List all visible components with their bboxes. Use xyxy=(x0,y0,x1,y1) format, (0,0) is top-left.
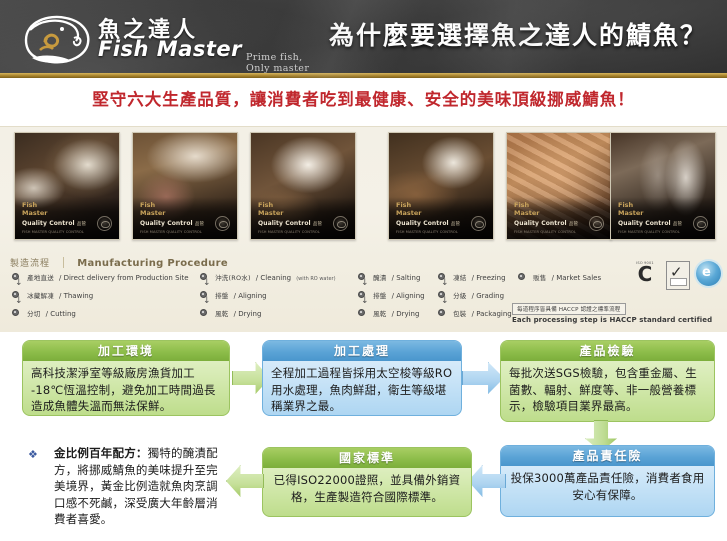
flow-box-title: 加工環境 xyxy=(23,341,229,361)
recipe-text: 金比例百年配方：獨特的醃漬配方，將挪威鯖魚的美味提升至完美境界，黃金比例造就魚肉… xyxy=(54,445,220,528)
procedure-step: 排盤 / Aligning xyxy=(358,289,438,296)
procedure-heading-en: Manufacturing Procedure xyxy=(77,258,228,269)
e-certification-icon: e xyxy=(696,261,721,286)
step-bullet-icon xyxy=(518,273,525,280)
fish-logo-icon xyxy=(18,10,96,68)
flow-box-standard[interactable]: 國家標準 已得ISO22000證照，並具備外銷資格，生產製造符合國際標準。 xyxy=(262,447,472,517)
procedure-column: 販售 / Market Sales xyxy=(518,271,628,278)
photo-caption-brand: Fish Master xyxy=(258,202,283,217)
procedure-step: 排盤 / Aligning xyxy=(200,289,345,296)
procedure-heading-cn: 製造流程 xyxy=(10,259,50,269)
flow-box-title: 產品責任險 xyxy=(501,446,714,466)
procedure-step: 分級 / Grading xyxy=(438,289,518,296)
photo-caption-title: Quality Control 品管 xyxy=(258,220,322,227)
step-bullet-icon xyxy=(200,291,207,298)
flow-box-processing[interactable]: 加工處理 全程加工過程皆採用太空梭等級RO用水處理，魚肉鮮甜，衛生等級堪稱業界之… xyxy=(262,340,462,416)
step-bullet-icon xyxy=(438,291,445,298)
photo-seal-icon xyxy=(589,216,604,231)
photo-caption-sub: FISH MASTER QUALITY CONTROL xyxy=(140,230,202,234)
quality-flow-diagram: 加工環境 高科技潔淨室等級廠房漁貨加工 -18℃恆溫控制，避免加工時間過長造成魚… xyxy=(0,332,727,541)
recipe-bullet-paragraph: ❖ 金比例百年配方：獨特的醃漬配方，將挪威鯖魚的美味提升至完美境界，黃金比例造就… xyxy=(28,445,220,528)
recipe-lead: 金比例百年配方： xyxy=(54,446,148,460)
procedure-step: 凍結 / Freezing xyxy=(438,271,518,278)
badge-bar xyxy=(670,278,687,286)
header-gold-divider xyxy=(0,73,727,78)
procedure-panel: Fish Master Quality Control 品管 FISH MAST… xyxy=(0,126,727,334)
procedure-column: 沖洗(RO水) / Cleaning (with RO water) ↓ 排盤 … xyxy=(200,271,345,314)
procedure-column: 凍結 / Freezing ↓ 分級 / Grading ↓ 包裝 / Pack xyxy=(438,271,518,314)
flow-box-body: 高科技潔淨室等級廠房漁貨加工 -18℃恆溫控制，避免加工時間過長造成魚體失溫而無… xyxy=(23,361,229,416)
flow-box-inspection[interactable]: 產品檢驗 每批次送SGS檢驗，包含重金屬、生菌數、輻射、鮮度等、非一般營養標示，… xyxy=(500,340,715,422)
step-bullet-icon xyxy=(200,273,207,280)
certification-badges: ISO 9001 C ✓ e xyxy=(632,261,724,291)
procedure-step: 風乾 / Drying xyxy=(200,307,345,314)
step-bullet-icon xyxy=(358,291,365,298)
procedure-column: 醃漬 / Salting ↓ 排盤 / Aligning ↓ 風乾 / Dryi xyxy=(358,271,438,314)
step-bullet-icon xyxy=(12,309,19,316)
step-bullet-icon xyxy=(358,309,365,316)
page-header: 魚之達人 Fish Master Prime fish, Only master… xyxy=(0,0,727,78)
photo-caption-title: Quality Control 品管 xyxy=(22,220,86,227)
slogan-text: 堅守六大生產品質，讓消費者吃到最健康、安全的美味頂級挪威鯖魚！ xyxy=(0,86,727,110)
photo-thumbnail[interactable]: Fish Master Quality Control 品管 FISH MAST… xyxy=(388,132,494,240)
procedure-step: 販售 / Market Sales xyxy=(518,271,628,278)
procedure-step: 冰藏解凍 / Thawing xyxy=(12,289,197,296)
photo-caption-sub: FISH MASTER QUALITY CONTROL xyxy=(258,230,320,234)
haccp-note-cn: 每道程序皆具備 HACCP 認證之標準流程 xyxy=(512,303,626,315)
flow-box-environment[interactable]: 加工環境 高科技潔淨室等級廠房漁貨加工 -18℃恆溫控制，避免加工時間過長造成魚… xyxy=(22,340,230,416)
diamond-bullet-icon: ❖ xyxy=(28,448,38,461)
iso-certification-icon: ISO 9001 C xyxy=(632,261,658,288)
photo-caption-sub: FISH MASTER QUALITY CONTROL xyxy=(618,230,680,234)
procedure-step: 風乾 / Drying xyxy=(358,307,438,314)
page-title: 為什麼要選擇魚之達人的鯖魚？ xyxy=(318,16,718,52)
photo-caption-sub: FISH MASTER QUALITY CONTROL xyxy=(396,230,458,234)
flow-box-body: 每批次送SGS檢驗，包含重金屬、生菌數、輻射、鮮度等、非一般營養標示，檢驗項目業… xyxy=(501,361,714,420)
photo-thumbnail[interactable]: Fish Master Quality Control 品管 FISH MAST… xyxy=(132,132,238,240)
flow-box-title: 產品檢驗 xyxy=(501,341,714,361)
photo-thumbnail[interactable]: Fish Master Quality Control 品管 FISH MAST… xyxy=(610,132,716,240)
flow-box-insurance[interactable]: 產品責任險 投保3000萬產品責任險，消費者食用安心有保障。 xyxy=(500,445,715,517)
step-bullet-icon xyxy=(438,309,445,316)
flow-box-title: 加工處理 xyxy=(263,341,461,361)
slide-page: 魚之達人 Fish Master Prime fish, Only master… xyxy=(0,0,727,541)
photo-caption-brand: Fish Master xyxy=(618,202,643,217)
photo-seal-icon xyxy=(471,216,486,231)
photo-seal-icon xyxy=(693,216,708,231)
photo-caption-brand: Fish Master xyxy=(22,202,47,217)
step-bullet-icon xyxy=(200,309,207,316)
photo-seal-icon xyxy=(97,216,112,231)
procedure-column: 產地直送 / Direct delivery from Production S… xyxy=(12,271,197,314)
step-bullet-icon xyxy=(12,291,19,298)
logo-tagline: Prime fish, Only master xyxy=(246,52,318,74)
flow-box-body: 已得ISO22000證照，並具備外銷資格，生產製造符合國際標準。 xyxy=(263,468,471,510)
photo-caption-brand: Fish Master xyxy=(396,202,421,217)
procedure-heading: 製造流程 Manufacturing Procedure xyxy=(10,251,228,265)
photo-thumbnail[interactable]: Fish Master Quality Control 品管 FISH MAST… xyxy=(250,132,356,240)
photo-caption-title: Quality Control 品管 xyxy=(140,220,204,227)
arrow-left-icon xyxy=(226,465,264,497)
photo-seal-icon xyxy=(333,216,348,231)
photo-caption-brand: Fish Master xyxy=(140,202,165,217)
photo-thumbnail[interactable]: Fish Master Quality Control 品管 FISH MAST… xyxy=(14,132,120,240)
heading-divider xyxy=(63,257,64,268)
step-bullet-icon xyxy=(12,273,19,280)
procedure-step: 產地直送 / Direct delivery from Production S… xyxy=(12,271,197,278)
procedure-step: 醃漬 / Salting xyxy=(358,271,438,278)
step-bullet-icon xyxy=(358,273,365,280)
arrow-right-icon xyxy=(462,362,504,394)
photo-caption-sub: FISH MASTER QUALITY CONTROL xyxy=(22,230,84,234)
photo-caption-title: Quality Control 品管 xyxy=(618,220,682,227)
checkmark-certification-icon: ✓ xyxy=(666,261,690,290)
photo-seal-icon xyxy=(215,216,230,231)
logo-english-name: Fish Master xyxy=(98,37,242,61)
flow-box-title: 國家標準 xyxy=(263,448,471,468)
brand-logo[interactable]: 魚之達人 Fish Master Prime fish, Only master xyxy=(18,8,318,70)
procedure-step: 沖洗(RO水) / Cleaning (with RO water) xyxy=(200,271,345,278)
flow-box-body: 全程加工過程皆採用太空梭等級RO用水處理，魚肉鮮甜，衛生等級堪稱業界之最。 xyxy=(263,361,461,416)
flow-box-body: 投保3000萬產品責任險，消費者食用安心有保障。 xyxy=(501,466,714,508)
photo-thumbnail[interactable]: Fish Master Quality Control 品管 FISH MAST… xyxy=(506,132,612,240)
photo-caption-title: Quality Control 品管 xyxy=(514,220,578,227)
photo-gallery: Fish Master Quality Control 品管 FISH MAST… xyxy=(8,132,720,240)
procedure-step: 包裝 / Packaging xyxy=(438,307,518,314)
haccp-note-en: Each processing step is HACCP standard c… xyxy=(512,316,712,324)
step-bullet-icon xyxy=(438,273,445,280)
photo-caption-brand: Fish Master xyxy=(514,202,539,217)
photo-caption-title: Quality Control 品管 xyxy=(396,220,460,227)
procedure-step: 分切 / Cutting xyxy=(12,307,197,314)
photo-caption-sub: FISH MASTER QUALITY CONTROL xyxy=(514,230,576,234)
